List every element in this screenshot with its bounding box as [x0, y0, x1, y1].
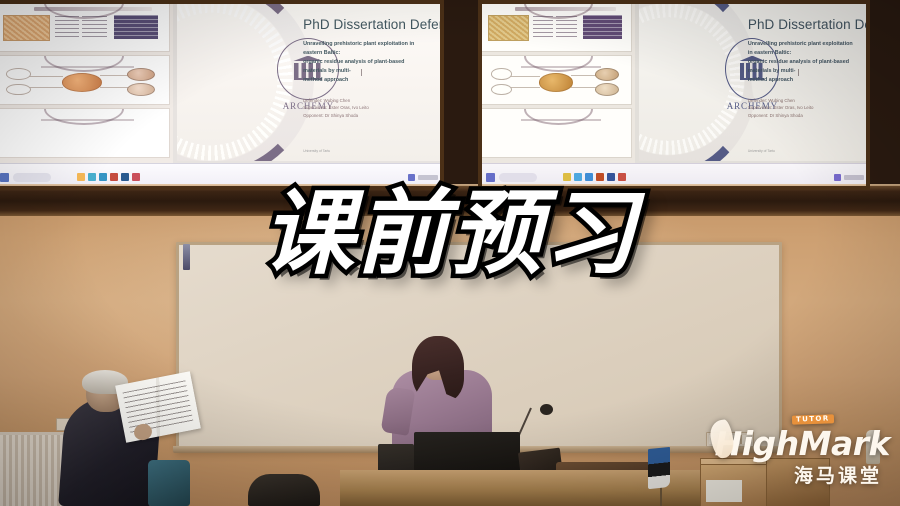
thumbnail-text-column [82, 16, 106, 39]
slide-thumbnail[interactable] [481, 2, 632, 52]
thumbnail-highlight-panel [114, 15, 159, 39]
diagram-link [29, 76, 64, 77]
diagram-link [29, 87, 64, 88]
chair [248, 474, 320, 506]
slide-subtitle-line: method approach [303, 76, 429, 85]
diagram-node [595, 83, 619, 96]
thumbnail-text-column [556, 16, 577, 39]
slide-thumbnail-panel-left[interactable] [0, 0, 173, 164]
brand-name: HighMark [715, 424, 890, 463]
slide-text-block: PhD Dissertation Defense Unravelling pre… [303, 17, 429, 119]
projection-screen-right: ARCHEMY PhD Dissertation Defense Unravel… [478, 0, 870, 190]
slide-title: PhD Dissertation Defense [303, 17, 429, 32]
slide-title: PhD Dissertation Defense [748, 17, 857, 32]
thumbnail-title-bar [41, 119, 134, 122]
diagram-link [571, 75, 596, 76]
powerpoint-window-right: ARCHEMY PhD Dissertation Defense Unravel… [478, 0, 870, 190]
slide-thumbnail-panel-right[interactable] [478, 0, 635, 164]
slide-thumbnail[interactable] [0, 55, 170, 105]
slide-subtitle-line: organic residue analysis of plant-based … [303, 58, 429, 76]
opponent-line: Opponent: Dr Shinya Shoda [748, 112, 857, 120]
microphone [540, 404, 553, 415]
slide-editing-pane-left[interactable]: ARCHEMY PhD Dissertation Defense Unravel… [173, 0, 444, 164]
search-input[interactable] [13, 173, 51, 182]
slide-editing-pane-right[interactable]: ARCHEMY PhD Dissertation Defense Unravel… [635, 0, 870, 164]
thumbnail-title-bar [515, 7, 616, 11]
supervisors-line: Supervisors: Ester Oras, Ivo Leito [303, 104, 429, 112]
text-cursor [798, 69, 799, 76]
arc-decoration-icon [524, 55, 593, 72]
thumbnail-title-bar [34, 7, 152, 11]
media-icon[interactable] [132, 173, 140, 181]
lectern-desk [340, 470, 760, 506]
thumbnail-text-column [55, 16, 79, 39]
diagram-node [491, 84, 512, 96]
diagram-node [6, 84, 30, 96]
slide-subtitle-line: organic residue analysis of plant-based … [748, 58, 857, 76]
powerpoint-icon[interactable] [110, 173, 118, 181]
slide-credits: Defender: Wubing Chen Supervisors: Ester… [303, 97, 429, 120]
defender-line: Defender: Wubing Chen [303, 97, 429, 105]
diagram-link [100, 87, 129, 88]
thumbnail-title-bar [521, 66, 601, 69]
diagram-link [510, 87, 540, 88]
brand-name-wrapper: HighMark TUTOR [715, 427, 890, 460]
diagram-node [127, 68, 155, 81]
slide-subtitle-line: Unravelling prehistoric plant exploitati… [748, 40, 857, 58]
arc-decoration-icon [524, 108, 593, 125]
thumbnail-title-bar [41, 66, 134, 69]
booklet [115, 371, 201, 442]
slide-subtitle: Unravelling prehistoric plant exploitati… [303, 40, 429, 85]
slide-subtitle-line: method approach [748, 76, 857, 85]
slide-footer: University of Tartu [303, 149, 330, 153]
slide-canvas: ARCHEMY PhD Dissertation Defense Unravel… [639, 3, 866, 161]
thumbnail-image [488, 15, 529, 41]
arc-decoration-icon [44, 108, 124, 125]
diagram-link [571, 87, 596, 88]
slide-footer: University of Tartu [748, 149, 775, 153]
clock-label [844, 175, 864, 180]
tutor-badge: TUTOR [792, 414, 834, 424]
taskbar-app-icons[interactable] [77, 173, 140, 181]
shoulder-bag [148, 460, 190, 506]
headline-text: 课前预习 [0, 186, 900, 282]
windows-start-icon[interactable] [0, 173, 9, 182]
browser-icon[interactable] [88, 173, 96, 181]
diagram-link [510, 76, 540, 77]
tray-chip-icon[interactable] [834, 174, 841, 181]
slide-thumbnail[interactable] [481, 108, 632, 158]
diagram-node [127, 83, 155, 96]
diagram-node [491, 68, 512, 80]
slide-thumbnail[interactable] [0, 108, 170, 158]
diagram-node [6, 68, 30, 80]
system-tray-icon[interactable] [834, 174, 864, 181]
thumbnail-highlight-panel [583, 15, 622, 39]
slide-credits: Defender: Wubing Chen Supervisors: Ester… [748, 97, 857, 120]
brand-watermark: HighMark TUTOR 海马课堂 [715, 427, 890, 488]
mail-icon[interactable] [99, 173, 107, 181]
thumbnail-title-bar [521, 119, 601, 122]
diagram-link [100, 75, 129, 76]
arc-decoration-icon [44, 55, 124, 72]
slide-canvas: ARCHEMY PhD Dissertation Defense Unravel… [177, 3, 440, 161]
diagram-node-center [539, 73, 574, 91]
audience-member [62, 368, 194, 506]
slide-subtitle: Unravelling prehistoric plant exploitati… [748, 40, 857, 85]
screenshot-root: ARCHEMY PhD Dissertation Defense Unravel… [0, 0, 900, 506]
slide-thumbnail[interactable] [0, 2, 170, 52]
word-icon[interactable] [121, 173, 129, 181]
estonian-flag [648, 447, 670, 489]
projection-screens-area: ARCHEMY PhD Dissertation Defense Unravel… [0, 0, 900, 196]
powerpoint-window-left: ARCHEMY PhD Dissertation Defense Unravel… [0, 0, 444, 190]
diagram-node-center [62, 73, 102, 91]
defender-line: Defender: Wubing Chen [748, 97, 857, 105]
clock-label [418, 175, 438, 180]
brand-name-chinese: 海马课堂 [715, 461, 882, 488]
slide-text-block: PhD Dissertation Defense Unravelling pre… [748, 17, 857, 119]
text-cursor [361, 69, 362, 76]
diagram-node [595, 68, 619, 81]
opponent-line: Opponent: Dr Shinya Shoda [303, 112, 429, 120]
projection-screen-left: ARCHEMY PhD Dissertation Defense Unravel… [0, 0, 444, 190]
thumbnail-image [3, 15, 50, 41]
slide-subtitle-line: Unravelling prehistoric plant exploitati… [303, 40, 429, 58]
file-explorer-icon[interactable] [77, 173, 85, 181]
supervisors-line: Supervisors: Ester Oras, Ivo Leito [748, 104, 857, 112]
slide-thumbnail[interactable] [481, 55, 632, 105]
thumbnail-text-column [533, 16, 554, 39]
